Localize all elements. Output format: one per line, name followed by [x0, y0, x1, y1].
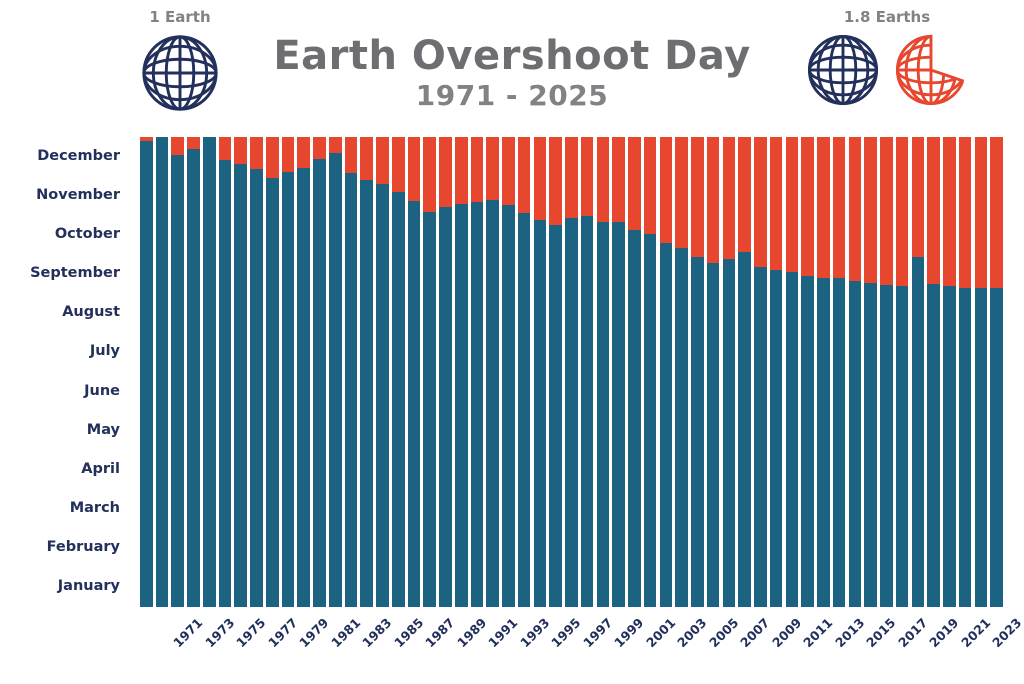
x-axis-label-2011: 2011	[800, 615, 835, 650]
x-axis-label-2005: 2005	[706, 615, 741, 650]
one-earth-legend: 1 Earth	[128, 8, 232, 121]
bar-blue-segment	[801, 276, 814, 607]
bar-2022[interactable]	[943, 137, 956, 607]
bar-blue-segment	[990, 288, 1003, 607]
x-axis-label-1995: 1995	[548, 615, 583, 650]
bar-2015[interactable]	[833, 137, 846, 607]
x-axis: 1971197319751977197919811983198519871989…	[140, 607, 1006, 684]
x-axis-label-2009: 2009	[769, 615, 804, 650]
bar-2007[interactable]	[707, 137, 720, 607]
bar-1975[interactable]	[203, 137, 216, 607]
bar-blue-segment	[455, 204, 468, 607]
page-subtitle: 1971 - 2025	[262, 80, 762, 112]
y-axis-label-august: August	[0, 304, 130, 320]
x-axis-label-1977: 1977	[265, 615, 300, 650]
bar-2025[interactable]	[990, 137, 1003, 607]
x-axis-label-2019: 2019	[926, 615, 961, 650]
bar-blue-segment	[486, 200, 499, 607]
bar-blue-segment	[849, 281, 862, 607]
x-axis-label-1993: 1993	[517, 615, 552, 650]
bar-1982[interactable]	[313, 137, 326, 607]
y-axis-label-july: July	[0, 343, 130, 359]
bar-1990[interactable]	[439, 137, 452, 607]
bar-blue-segment	[959, 288, 972, 607]
bar-1981[interactable]	[297, 137, 310, 607]
title-block: Earth Overshoot Day 1971 - 2025	[262, 34, 762, 112]
bar-2009[interactable]	[738, 137, 751, 607]
bar-2004[interactable]	[660, 137, 673, 607]
bar-1988[interactable]	[408, 137, 421, 607]
y-axis-label-october: October	[0, 226, 130, 242]
bar-blue-segment	[896, 286, 909, 607]
x-axis-label-2017: 2017	[895, 615, 930, 650]
bar-blue-segment	[203, 137, 216, 607]
page-title: Earth Overshoot Day	[262, 34, 762, 78]
bar-blue-segment	[282, 172, 295, 607]
bar-1993[interactable]	[486, 137, 499, 607]
x-axis-label-1997: 1997	[580, 615, 615, 650]
bar-blue-segment	[597, 222, 610, 607]
x-axis-label-2021: 2021	[958, 615, 993, 650]
bar-blue-segment	[691, 257, 704, 607]
bar-2000[interactable]	[597, 137, 610, 607]
bar-1976[interactable]	[219, 137, 232, 607]
bar-blue-segment	[345, 173, 358, 607]
bar-1999[interactable]	[581, 137, 594, 607]
x-axis-label-2001: 2001	[643, 615, 678, 650]
bar-blue-segment	[754, 267, 767, 607]
bar-1998[interactable]	[565, 137, 578, 607]
bar-blue-segment	[360, 180, 373, 607]
y-axis-label-november: November	[0, 187, 130, 203]
bar-1985[interactable]	[360, 137, 373, 607]
globe-icon	[803, 30, 883, 115]
one-point-eight-earths-legend: 1.8 Earths	[792, 8, 982, 115]
earth-overshoot-day-infographic: 1 Earth	[0, 0, 1024, 684]
bar-blue-segment	[738, 252, 751, 607]
bar-2012[interactable]	[786, 137, 799, 607]
bar-blue-segment	[439, 207, 452, 607]
bar-2006[interactable]	[691, 137, 704, 607]
bar-blue-segment	[707, 263, 720, 607]
bar-blue-segment	[943, 286, 956, 607]
bar-blue-segment	[140, 141, 153, 607]
y-axis-label-december: December	[0, 148, 130, 164]
bar-blue-segment	[912, 257, 925, 607]
bar-2003[interactable]	[644, 137, 657, 607]
plot-area	[140, 137, 1006, 607]
bar-blue-segment	[313, 159, 326, 607]
bar-blue-segment	[612, 222, 625, 607]
bar-1980[interactable]	[282, 137, 295, 607]
bar-blue-segment	[156, 137, 169, 607]
bar-blue-segment	[723, 259, 736, 607]
bar-blue-segment	[423, 212, 436, 607]
bar-blue-segment	[675, 248, 688, 607]
x-axis-label-1983: 1983	[359, 615, 394, 650]
bar-blue-segment	[187, 149, 200, 607]
bar-blue-segment	[786, 272, 799, 607]
bar-blue-segment	[864, 283, 877, 607]
bar-1986[interactable]	[376, 137, 389, 607]
bar-blue-segment	[975, 288, 988, 607]
bar-blue-segment	[219, 160, 232, 607]
bar-blue-segment	[833, 278, 846, 607]
y-axis-label-may: May	[0, 422, 130, 438]
y-axis-label-june: June	[0, 383, 130, 399]
x-axis-label-1979: 1979	[296, 615, 331, 650]
bar-2024[interactable]	[975, 137, 988, 607]
bar-1984[interactable]	[345, 137, 358, 607]
x-axis-label-1991: 1991	[485, 615, 520, 650]
bar-blue-segment	[518, 213, 531, 607]
bar-2023[interactable]	[959, 137, 972, 607]
bar-blue-segment	[234, 164, 247, 607]
bar-2008[interactable]	[723, 137, 736, 607]
bar-2018[interactable]	[880, 137, 893, 607]
x-axis-label-1975: 1975	[233, 615, 268, 650]
y-axis-label-march: March	[0, 500, 130, 516]
bar-blue-segment	[817, 278, 830, 607]
bar-blue-segment	[376, 184, 389, 607]
bar-2011[interactable]	[770, 137, 783, 607]
y-axis: DecemberNovemberOctoberSeptemberAugustJu…	[0, 137, 130, 607]
x-axis-label-1973: 1973	[202, 615, 237, 650]
bar-blue-segment	[565, 218, 578, 607]
bar-blue-segment	[502, 205, 515, 607]
bar-1989[interactable]	[423, 137, 436, 607]
x-axis-label-1971: 1971	[170, 615, 205, 650]
one-point-eight-earths-caption: 1.8 Earths	[792, 8, 982, 26]
bar-1977[interactable]	[234, 137, 247, 607]
bar-1978[interactable]	[250, 137, 263, 607]
bar-1974[interactable]	[187, 137, 200, 607]
x-axis-label-1985: 1985	[391, 615, 426, 650]
bar-blue-segment	[408, 201, 421, 607]
bar-1973[interactable]	[171, 137, 184, 607]
bar-2014[interactable]	[817, 137, 830, 607]
bar-1994[interactable]	[502, 137, 515, 607]
bar-2001[interactable]	[612, 137, 625, 607]
bar-1992[interactable]	[471, 137, 484, 607]
one-earth-globes	[128, 30, 232, 121]
bar-blue-segment	[392, 192, 405, 607]
y-axis-label-february: February	[0, 539, 130, 555]
bar-blue-segment	[171, 155, 184, 607]
bar-blue-segment	[660, 243, 673, 607]
bar-blue-segment	[927, 284, 940, 607]
bar-2013[interactable]	[801, 137, 814, 607]
y-axis-label-january: January	[0, 578, 130, 594]
one-point-eight-earths-globes	[792, 30, 982, 115]
bar-2020[interactable]	[912, 137, 925, 607]
x-axis-label-2003: 2003	[674, 615, 709, 650]
bar-1991[interactable]	[455, 137, 468, 607]
bar-2021[interactable]	[927, 137, 940, 607]
bar-blue-segment	[534, 220, 547, 607]
y-axis-label-april: April	[0, 461, 130, 477]
x-axis-label-1981: 1981	[328, 615, 363, 650]
bar-1979[interactable]	[266, 137, 279, 607]
y-axis-label-september: September	[0, 265, 130, 281]
x-axis-label-1989: 1989	[454, 615, 489, 650]
bar-1971[interactable]	[140, 137, 153, 607]
x-axis-label-1987: 1987	[422, 615, 457, 650]
bar-blue-segment	[581, 216, 594, 608]
x-axis-label-2007: 2007	[737, 615, 772, 650]
bar-blue-segment	[549, 225, 562, 607]
bar-2005[interactable]	[675, 137, 688, 607]
x-axis-label-2013: 2013	[832, 615, 867, 650]
bar-1997[interactable]	[549, 137, 562, 607]
bar-2010[interactable]	[754, 137, 767, 607]
bar-blue-segment	[329, 153, 342, 607]
partial-globe-icon	[891, 30, 971, 115]
bar-blue-segment	[628, 230, 641, 607]
bar-blue-segment	[250, 169, 263, 607]
bar-1983[interactable]	[329, 137, 342, 607]
bar-blue-segment	[644, 234, 657, 607]
x-axis-label-2015: 2015	[863, 615, 898, 650]
bar-blue-segment	[770, 270, 783, 607]
x-axis-label-2023: 2023	[989, 615, 1024, 650]
bar-blue-segment	[266, 178, 279, 607]
bar-blue-segment	[297, 168, 310, 607]
one-earth-caption: 1 Earth	[128, 8, 232, 26]
bar-2019[interactable]	[896, 137, 909, 607]
bar-1995[interactable]	[518, 137, 531, 607]
chart-header: 1 Earth	[0, 0, 1024, 132]
bar-2016[interactable]	[849, 137, 862, 607]
bar-1972[interactable]	[156, 137, 169, 607]
bar-2002[interactable]	[628, 137, 641, 607]
bar-blue-segment	[471, 202, 484, 607]
globe-icon	[137, 30, 223, 121]
bar-blue-segment	[880, 285, 893, 607]
bar-2017[interactable]	[864, 137, 877, 607]
bar-1987[interactable]	[392, 137, 405, 607]
bar-1996[interactable]	[534, 137, 547, 607]
x-axis-label-1999: 1999	[611, 615, 646, 650]
